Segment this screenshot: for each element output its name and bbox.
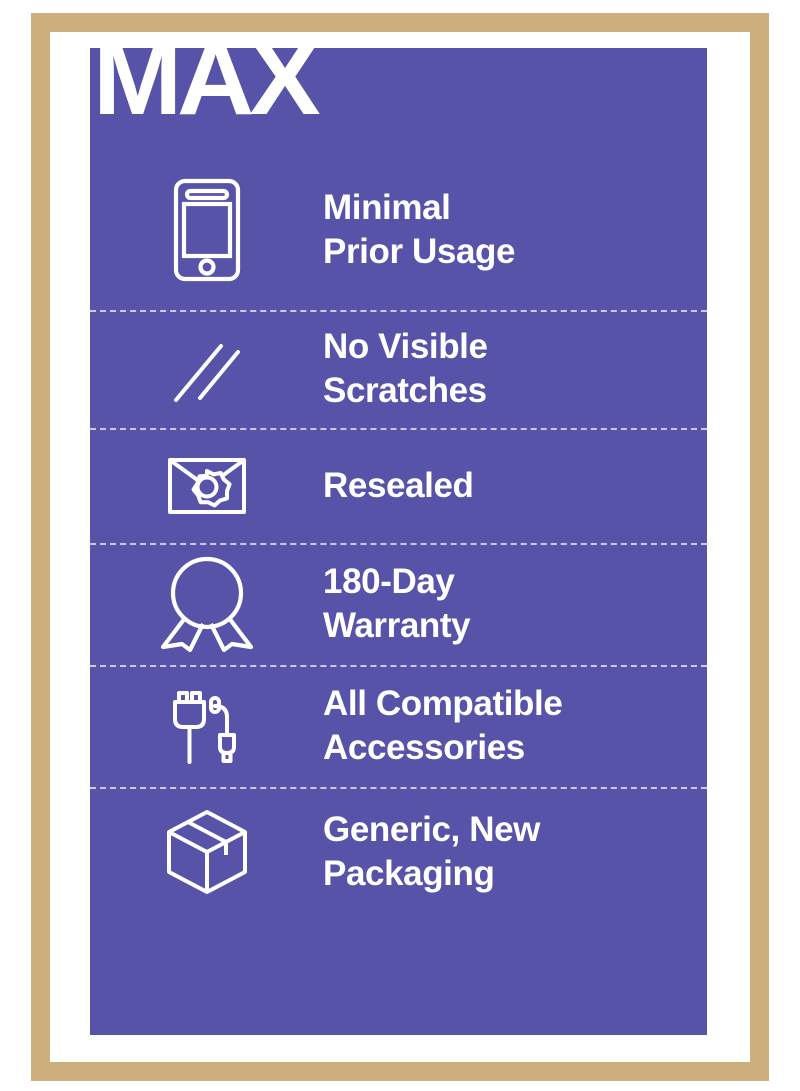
feature-label: No Visible Scratches	[323, 325, 488, 413]
package-box-icon	[90, 808, 323, 896]
feature-row-180-day-warranty: 180-Day Warranty	[90, 543, 707, 665]
row-divider	[90, 428, 707, 430]
row-divider	[90, 787, 707, 789]
infographic-card: MAX Minimal Prior Usage	[0, 0, 800, 1091]
row-divider	[90, 310, 707, 312]
feature-row-resealed: Resealed	[90, 428, 707, 543]
scratch-lines-icon	[90, 330, 323, 408]
smartphone-icon	[90, 178, 323, 282]
feature-label: All Compatible Accessories	[323, 682, 562, 770]
feature-row-all-compatible-accessories: All Compatible Accessories	[90, 665, 707, 787]
feature-label: Minimal Prior Usage	[323, 186, 515, 274]
feature-label: 180-Day Warranty	[323, 560, 470, 648]
feature-row-generic-new-packaging: Generic, New Packaging	[90, 787, 707, 917]
feature-row-minimal-prior-usage: Minimal Prior Usage	[90, 150, 707, 310]
award-ribbon-icon	[90, 555, 323, 653]
page-title: MAX	[93, 33, 315, 125]
row-divider	[90, 665, 707, 667]
row-divider	[90, 543, 707, 545]
feature-label: Resealed	[323, 464, 474, 508]
feature-list: Minimal Prior Usage No Visible Scratches	[90, 150, 707, 1035]
usb-cable-icon	[90, 686, 323, 766]
feature-label: Generic, New Packaging	[323, 808, 540, 896]
sealed-envelope-icon	[90, 457, 323, 515]
feature-row-no-visible-scratches: No Visible Scratches	[90, 310, 707, 428]
